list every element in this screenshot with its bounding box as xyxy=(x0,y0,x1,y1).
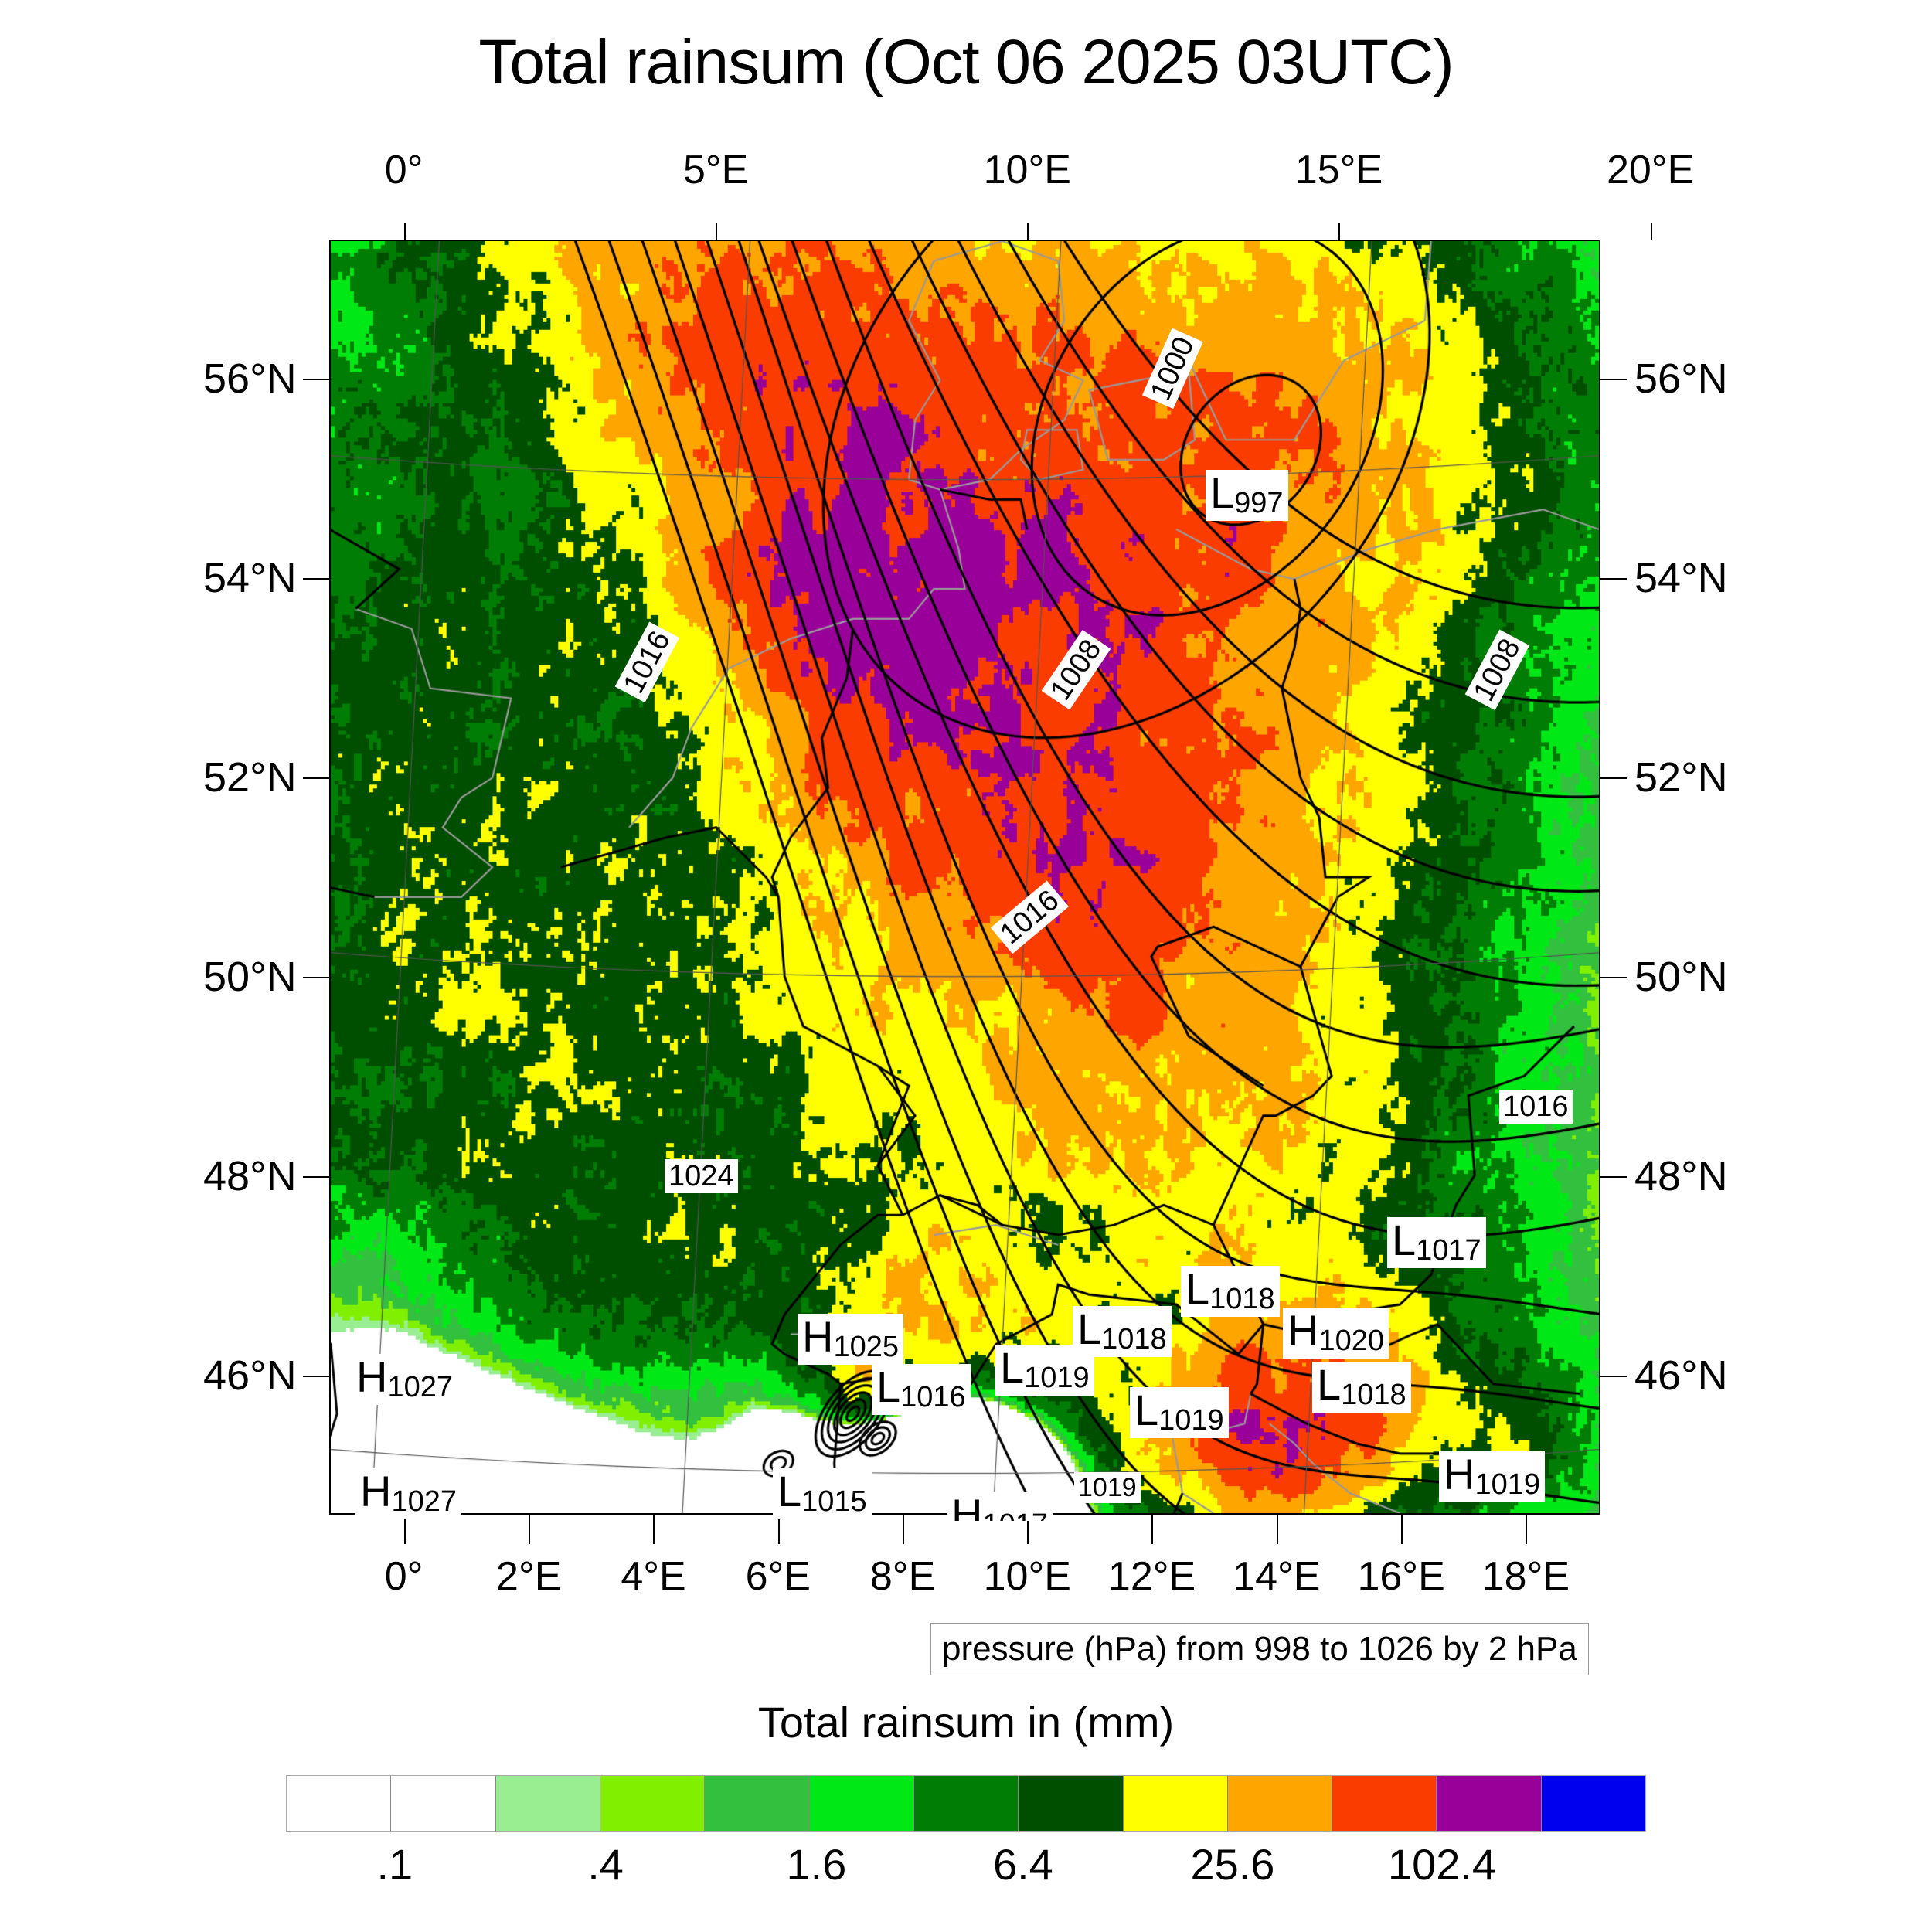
colorbar-tick-0: .1 xyxy=(376,1839,413,1889)
colorbar-segment-11 xyxy=(1436,1776,1540,1831)
axis-label-top-2: 10°E xyxy=(984,147,1071,193)
contour-label-1016-e: 1016 xyxy=(1499,1090,1573,1124)
tick-bottom-1 xyxy=(529,1515,530,1544)
pressure-center-H-1020: H1020 xyxy=(1283,1308,1389,1359)
colorbar-segment-1 xyxy=(390,1776,495,1831)
colorbar-tick-2: 1.6 xyxy=(786,1839,846,1889)
pressure-center-L-1018-west: L1018 xyxy=(1073,1306,1172,1357)
tick-left-1 xyxy=(303,578,329,580)
tick-left-5 xyxy=(303,1376,329,1377)
axis-label-left-0: 56°N xyxy=(203,355,297,403)
tick-bottom-7 xyxy=(1277,1515,1278,1544)
colorbar-segment-7 xyxy=(1018,1776,1122,1831)
axis-label-right-0: 56°N xyxy=(1634,355,1728,403)
tick-top-1 xyxy=(716,223,717,240)
axis-label-right-5: 46°N xyxy=(1634,1352,1728,1400)
axis-label-left-2: 52°N xyxy=(203,753,297,801)
axis-label-bottom-5: 10°E xyxy=(984,1553,1071,1600)
tick-top-0 xyxy=(404,223,406,240)
axis-label-bottom-1: 2°E xyxy=(496,1553,561,1600)
axis-label-bottom-8: 16°E xyxy=(1357,1553,1444,1600)
colorbar-tick-5: 102.4 xyxy=(1388,1839,1496,1889)
colorbar-tick-4: 25.6 xyxy=(1190,1839,1274,1889)
rainfall-heatmap-canvas xyxy=(331,241,1599,1513)
colorbar-segment-3 xyxy=(600,1776,704,1831)
tick-bottom-6 xyxy=(1151,1515,1153,1544)
colorbar-tick-3: 6.4 xyxy=(993,1839,1053,1889)
axis-label-right-2: 52°N xyxy=(1634,753,1728,801)
axis-label-bottom-7: 14°E xyxy=(1233,1553,1320,1600)
tick-left-3 xyxy=(303,977,329,978)
pressure-center-L-1017: L1017 xyxy=(1387,1217,1486,1268)
axis-label-top-3: 15°E xyxy=(1295,147,1383,193)
axis-label-left-1: 54°N xyxy=(203,554,297,602)
tick-top-3 xyxy=(1338,223,1340,240)
axis-label-right-1: 54°N xyxy=(1634,554,1728,602)
tick-bottom-2 xyxy=(653,1515,655,1544)
contour-label-1024: 1024 xyxy=(665,1159,738,1193)
colorbar-segment-0 xyxy=(287,1776,390,1831)
axis-label-left-3: 50°N xyxy=(203,953,297,1001)
colorbar-segment-4 xyxy=(704,1776,808,1831)
pressure-center-H-1027-lower: H1027 xyxy=(355,1468,461,1519)
axis-label-left-5: 46°N xyxy=(203,1352,297,1400)
axis-label-top-1: 5°E xyxy=(683,147,748,193)
tick-left-4 xyxy=(303,1176,329,1178)
pressure-center-H-1017-clipped: H1017 xyxy=(947,1492,1053,1521)
colorbar-tick-labels: .1.41.66.425.6102.4 xyxy=(286,1839,1646,1901)
pressure-center-L-1019-east: L1019 xyxy=(1130,1387,1229,1438)
axis-label-bottom-4: 8°E xyxy=(870,1553,935,1600)
tick-left-2 xyxy=(303,777,329,779)
colorbar-segment-6 xyxy=(913,1776,1018,1831)
axis-label-right-3: 50°N xyxy=(1634,953,1728,1001)
axis-label-bottom-2: 4°E xyxy=(621,1553,685,1600)
contour-label-1019-inline: 1019 xyxy=(1074,1472,1141,1503)
colorbar-segment-10 xyxy=(1332,1776,1436,1831)
pressure-legend: pressure (hPa) from 998 to 1026 by 2 hPa xyxy=(930,1623,1589,1675)
pressure-center-H-1019: H1019 xyxy=(1439,1451,1545,1502)
pressure-center-L-997: L997 xyxy=(1206,470,1288,521)
colorbar-segment-2 xyxy=(495,1776,600,1831)
tick-top-4 xyxy=(1651,223,1652,240)
axis-label-top-0: 0° xyxy=(385,147,423,193)
colorbar-segment-8 xyxy=(1123,1776,1227,1831)
colorbar-title: Total rainsum in (mm) xyxy=(0,1697,1932,1747)
colorbar xyxy=(286,1775,1646,1832)
tick-right-3 xyxy=(1600,977,1627,978)
tick-bottom-4 xyxy=(903,1515,904,1544)
colorbar-segment-9 xyxy=(1227,1776,1332,1831)
tick-bottom-9 xyxy=(1526,1515,1527,1544)
axis-label-right-4: 48°N xyxy=(1634,1152,1728,1200)
pressure-center-L-1018-east: L1018 xyxy=(1181,1266,1280,1317)
tick-right-0 xyxy=(1600,379,1627,380)
pressure-center-H-1025: H1025 xyxy=(798,1314,903,1365)
tick-left-0 xyxy=(303,379,329,380)
axis-label-bottom-9: 18°E xyxy=(1482,1553,1570,1600)
pressure-center-L-1016: L1016 xyxy=(872,1364,971,1415)
axis-label-bottom-6: 12°E xyxy=(1108,1553,1196,1600)
colorbar-segment-12 xyxy=(1541,1776,1645,1831)
axis-label-bottom-3: 6°E xyxy=(746,1553,811,1600)
axis-label-left-4: 48°N xyxy=(203,1152,297,1200)
page-title: Total rainsum (Oct 06 2025 03UTC) xyxy=(0,26,1932,99)
tick-right-4 xyxy=(1600,1176,1627,1178)
colorbar-segment-5 xyxy=(809,1776,913,1831)
pressure-center-H-1027-upper: H1027 xyxy=(352,1354,457,1405)
map-plot-area xyxy=(329,240,1600,1515)
pressure-center-L-1018-se: L1018 xyxy=(1312,1362,1411,1413)
tick-right-2 xyxy=(1600,777,1627,779)
tick-right-5 xyxy=(1600,1376,1627,1377)
axis-label-top-4: 20°E xyxy=(1607,147,1694,193)
tick-top-2 xyxy=(1027,223,1029,240)
pressure-center-L-1015: L1015 xyxy=(773,1468,872,1519)
tick-bottom-8 xyxy=(1401,1515,1403,1544)
colorbar-tick-1: .4 xyxy=(587,1839,624,1889)
tick-right-1 xyxy=(1600,578,1627,580)
axis-label-bottom-0: 0° xyxy=(385,1553,423,1600)
